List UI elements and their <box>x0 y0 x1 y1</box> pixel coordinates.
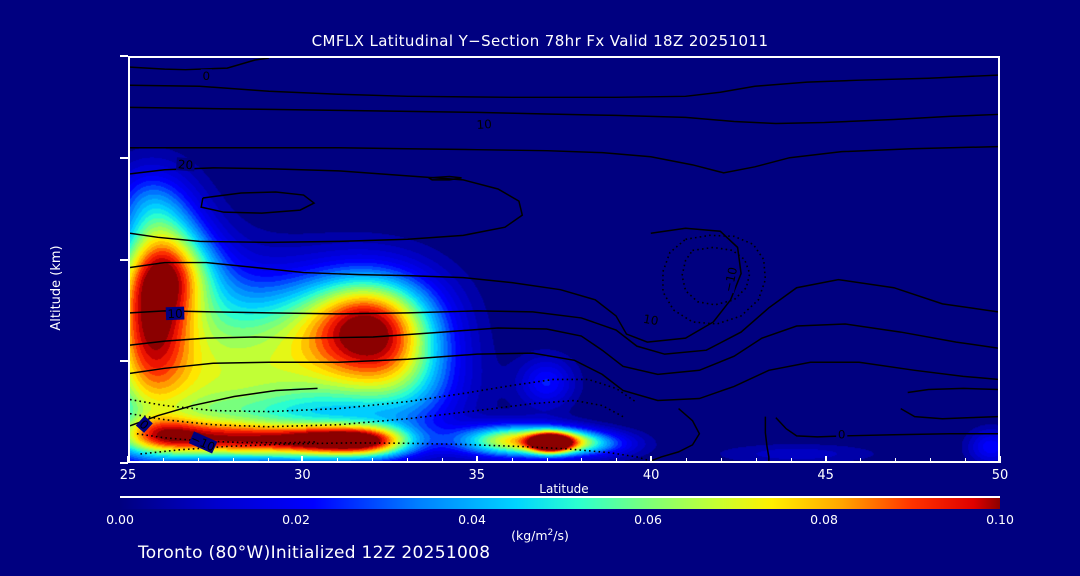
colorbar-tick-4: 0.08 <box>789 512 859 527</box>
x-tick-mark <box>476 456 478 463</box>
y-axis-title: Altitude (km) <box>49 245 64 330</box>
x-tick-minor <box>268 458 269 463</box>
x-tick-mark <box>825 456 827 463</box>
y-tick-mark <box>120 360 128 362</box>
y-tick-mark <box>120 55 128 57</box>
x-tick-minor <box>163 458 164 463</box>
colorbar-tick-1: 0.02 <box>261 512 331 527</box>
x-tick-mark <box>999 456 1001 463</box>
x-axis-title: Latitude <box>128 482 1000 496</box>
x-tick-mark <box>127 456 129 463</box>
colorbar-gradient <box>120 496 1000 509</box>
x-tick-minor <box>721 458 722 463</box>
x-tick-minor <box>686 458 687 463</box>
colorbar-units-label: (kg/m2/s) <box>0 528 1080 543</box>
x-tick-minor <box>198 458 199 463</box>
y-tick-mark <box>120 259 128 261</box>
x-tick-label-45: 45 <box>796 468 856 483</box>
x-tick-label-30: 30 <box>272 468 332 483</box>
colorbar[interactable] <box>120 496 1000 509</box>
x-tick-minor <box>337 458 338 463</box>
x-tick-minor <box>547 458 548 463</box>
x-tick-minor <box>895 458 896 463</box>
plot-area: 01020100−1010−100 <box>128 56 1000 463</box>
colorbar-tick-3: 0.06 <box>613 512 683 527</box>
x-tick-label-25: 25 <box>98 468 158 483</box>
x-tick-minor <box>372 458 373 463</box>
colorbar-tick-5: 0.10 <box>965 512 1035 527</box>
colorbar-tick-0: 0.00 <box>85 512 155 527</box>
x-tick-mark <box>650 456 652 463</box>
colorbar-tick-2: 0.04 <box>437 512 507 527</box>
figure-canvas: CMFLX Latitudinal Y−Section 78hr Fx Vali… <box>0 0 1080 576</box>
x-tick-minor <box>512 458 513 463</box>
x-tick-minor <box>791 458 792 463</box>
units-suffix: /s) <box>553 528 569 543</box>
caption: Toronto (80°W)Initialized 12Z 20251008 <box>138 543 490 563</box>
x-tick-minor <box>930 458 931 463</box>
x-tick-minor <box>407 458 408 463</box>
x-tick-minor <box>233 458 234 463</box>
units-prefix: (kg/m <box>511 528 547 543</box>
x-tick-minor <box>442 458 443 463</box>
x-tick-minor <box>965 458 966 463</box>
heatmap-field <box>130 58 998 461</box>
x-tick-label-50: 50 <box>970 468 1030 483</box>
x-tick-label-35: 35 <box>447 468 507 483</box>
x-tick-mark <box>301 456 303 463</box>
x-tick-minor <box>860 458 861 463</box>
y-tick-mark <box>120 157 128 159</box>
x-tick-minor <box>756 458 757 463</box>
x-tick-label-40: 40 <box>621 468 681 483</box>
x-tick-minor <box>616 458 617 463</box>
page-title: CMFLX Latitudinal Y−Section 78hr Fx Vali… <box>0 32 1080 50</box>
x-tick-minor <box>581 458 582 463</box>
